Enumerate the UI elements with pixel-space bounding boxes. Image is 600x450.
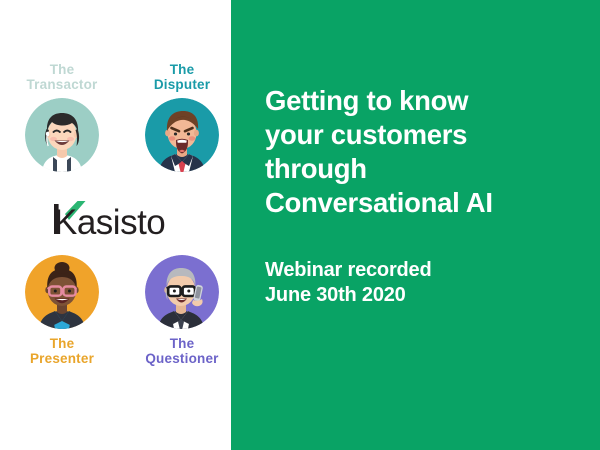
persona-transactor-label-line2: Transactor bbox=[6, 77, 118, 92]
persona-disputer-label-line2: Disputer bbox=[126, 77, 238, 92]
webinar-headline: Getting to know your customers through C… bbox=[265, 84, 575, 220]
avatar-transactor bbox=[25, 98, 99, 172]
avatar-disputer bbox=[145, 98, 219, 172]
title-panel: Getting to know your customers through C… bbox=[231, 0, 600, 450]
avatar-questioner bbox=[145, 255, 219, 329]
persona-transactor-label: The Transactor bbox=[6, 62, 118, 92]
persona-presenter-label-line1: The bbox=[6, 336, 118, 351]
headline-line-4: Conversational AI bbox=[265, 186, 575, 220]
persona-disputer-label-line1: The bbox=[126, 62, 238, 77]
headline-line-3: through bbox=[265, 152, 575, 186]
persona-panel: The Transactor bbox=[0, 0, 231, 450]
webinar-title-slide: The Transactor bbox=[0, 0, 600, 450]
avatar-disputer-illustration bbox=[145, 98, 219, 172]
webinar-subheading: Webinar recorded June 30th 2020 bbox=[265, 258, 585, 308]
persona-presenter-label-line2: Presenter bbox=[6, 351, 118, 366]
subhead-line-2: June 30th 2020 bbox=[265, 283, 585, 308]
persona-transactor: The Transactor bbox=[6, 62, 118, 172]
persona-presenter-label: The Presenter bbox=[6, 336, 118, 366]
headline-line-1: Getting to know bbox=[265, 84, 575, 118]
persona-questioner-label-line1: The bbox=[126, 336, 238, 351]
persona-questioner: The Questioner bbox=[126, 255, 238, 366]
persona-disputer: The Disputer bbox=[126, 62, 238, 172]
kasisto-logo-mark: Kasisto bbox=[36, 196, 196, 242]
avatar-presenter bbox=[25, 255, 99, 329]
avatar-questioner-illustration bbox=[145, 255, 219, 329]
persona-questioner-label-line2: Questioner bbox=[126, 351, 238, 366]
subhead-line-1: Webinar recorded bbox=[265, 258, 585, 283]
persona-transactor-label-line1: The bbox=[6, 62, 118, 77]
headline-line-2: your customers bbox=[265, 118, 575, 152]
avatar-transactor-illustration bbox=[25, 98, 99, 172]
kasisto-wordmark-text: Kasisto bbox=[54, 203, 165, 242]
persona-questioner-label: The Questioner bbox=[126, 336, 238, 366]
persona-disputer-label: The Disputer bbox=[126, 62, 238, 92]
persona-presenter: The Presenter bbox=[6, 255, 118, 366]
kasisto-logo: Kasisto bbox=[0, 196, 231, 246]
avatar-presenter-illustration bbox=[25, 255, 99, 329]
